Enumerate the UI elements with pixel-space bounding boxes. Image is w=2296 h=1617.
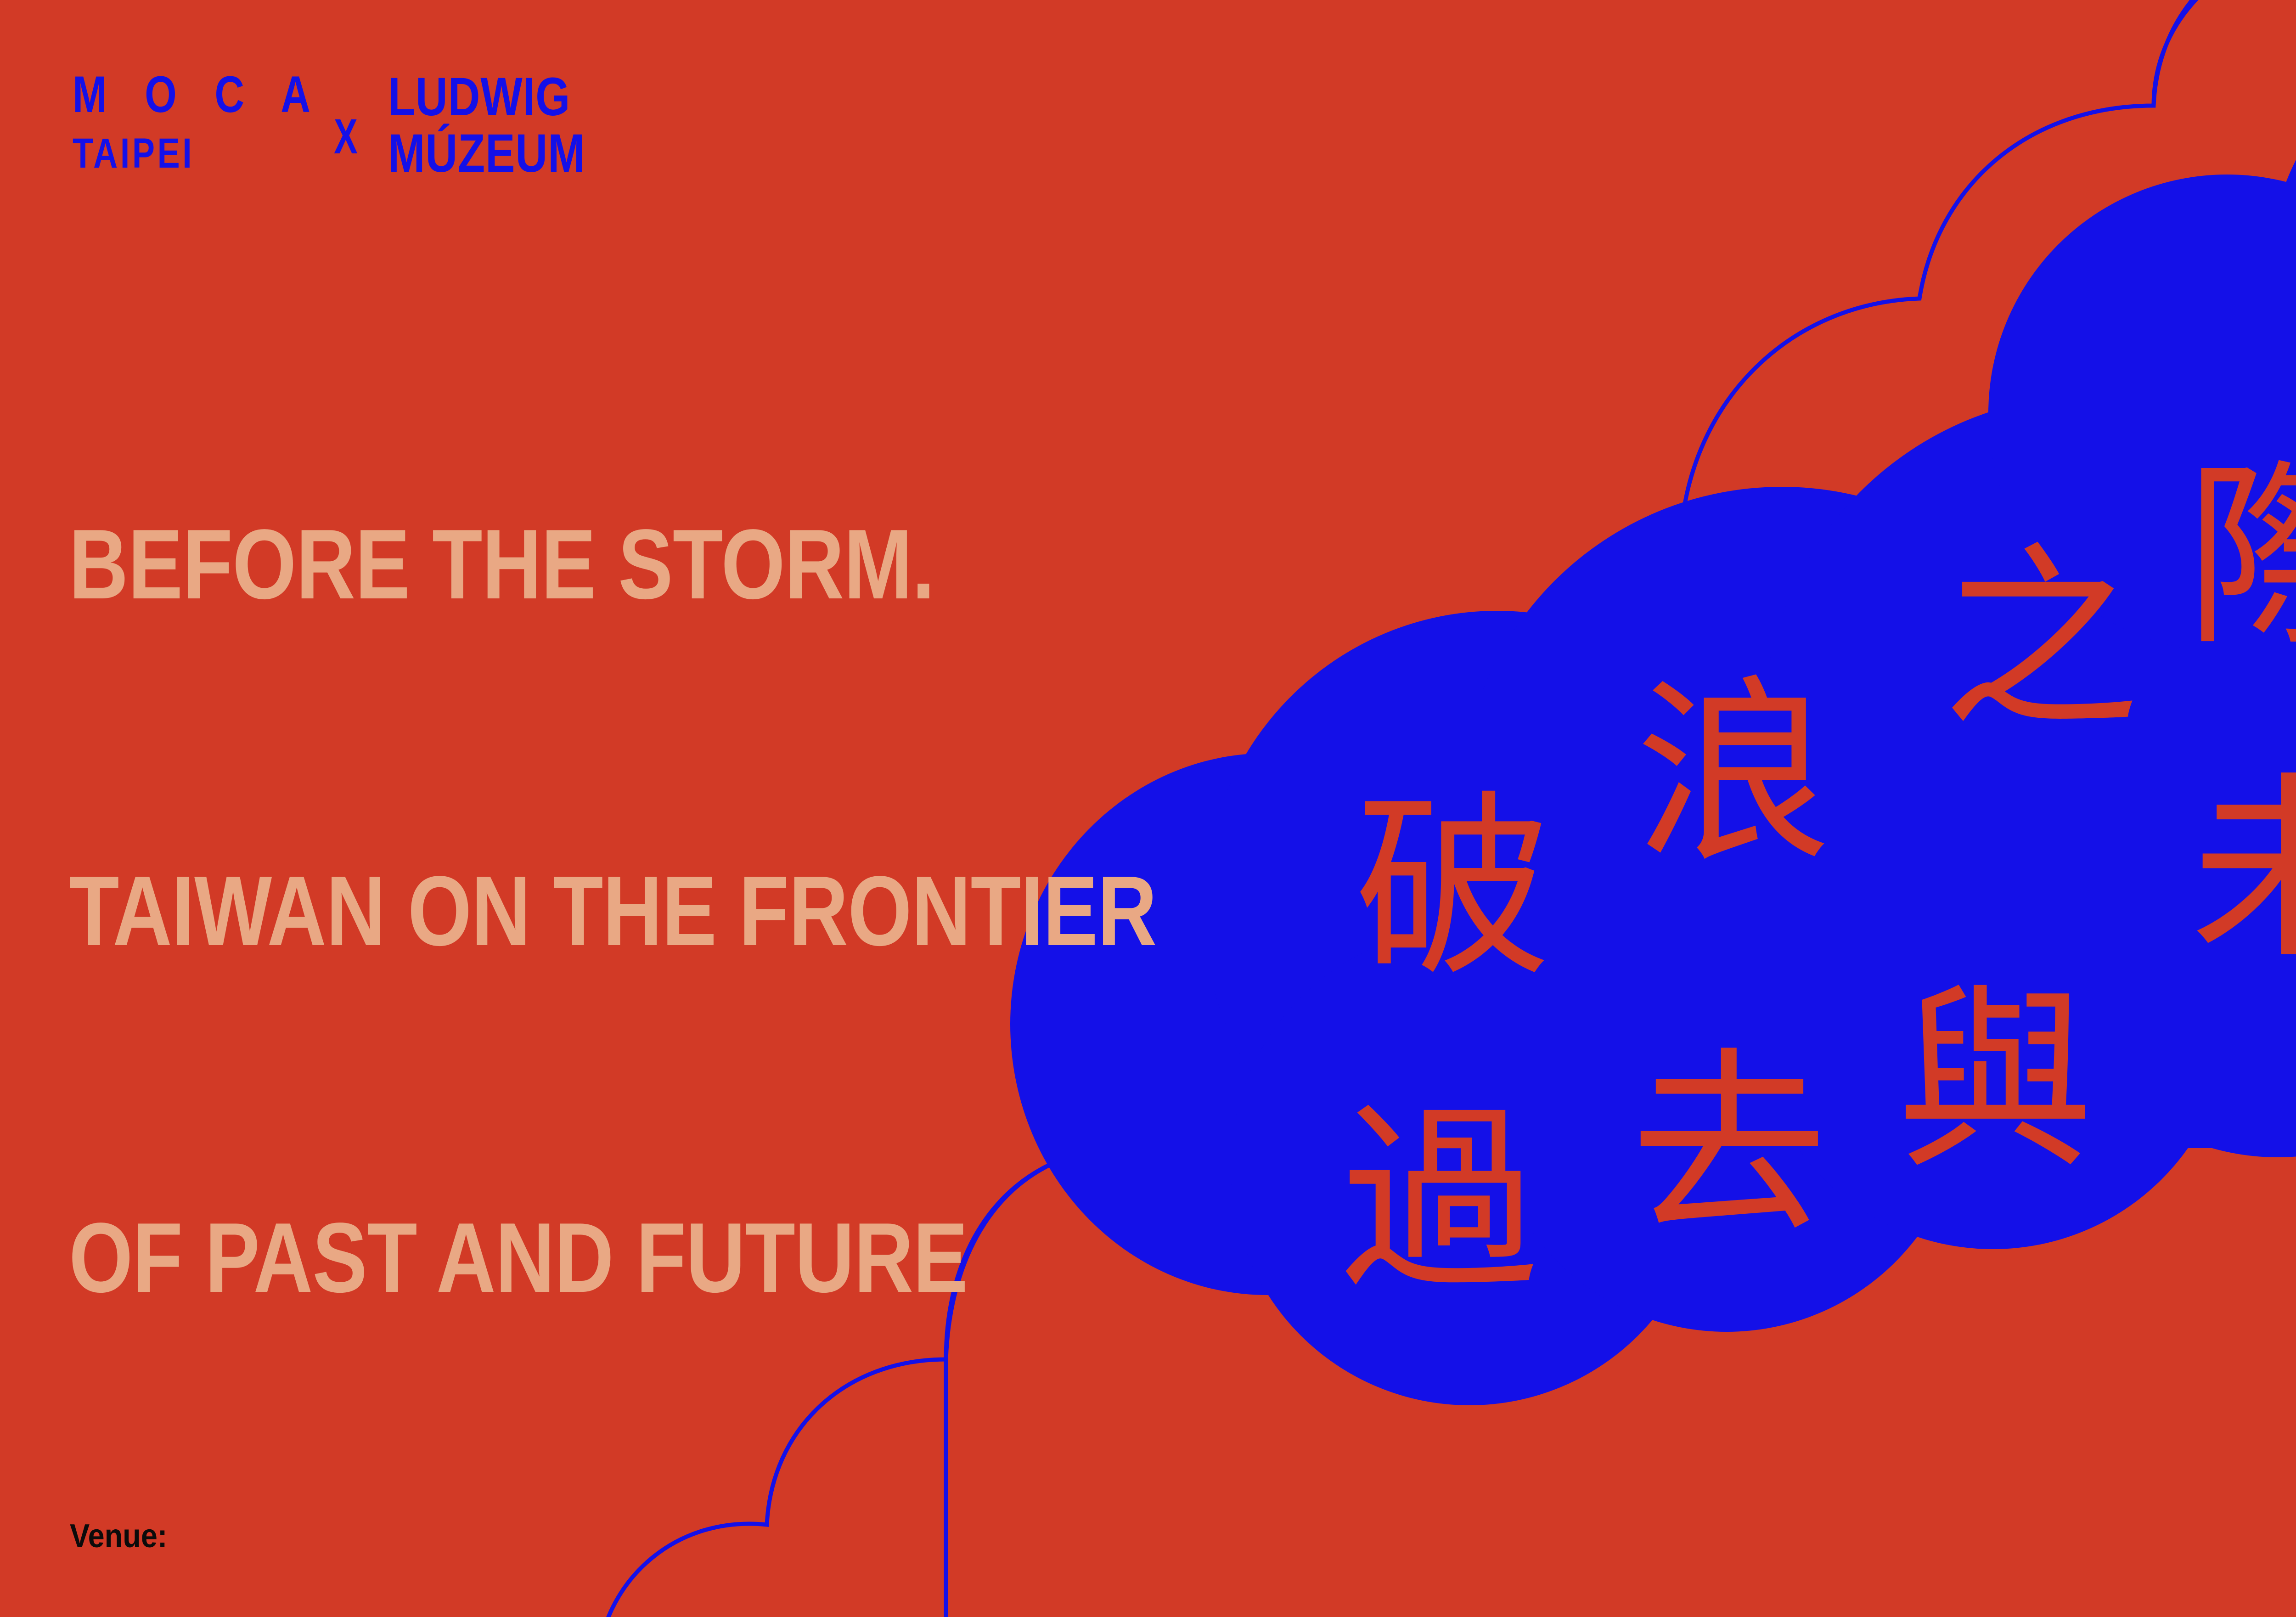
logo-moca-text: M O C A xyxy=(73,69,324,120)
title-line-2: TAIWAN ON THE FRONTIER xyxy=(69,853,1157,969)
logo-lockup[interactable]: M O C A TAIPEI X LUDWIG MÚZEUM xyxy=(73,69,629,181)
chinese-character: 之 xyxy=(1942,542,2140,739)
chinese-character: 過 xyxy=(1341,1102,1538,1300)
logo-taipei-text: TAIPEI xyxy=(73,132,324,175)
exhibition-title: BEFORE THE STORM. TAIWAN ON THE FRONTIER… xyxy=(69,276,1157,1547)
logo-ludwig-text: LUDWIG xyxy=(388,69,585,125)
logo-muzeum-text: MÚZEUM xyxy=(388,125,585,182)
chinese-character: 去 xyxy=(1630,1047,1828,1245)
chinese-character: 浪 xyxy=(1635,675,1832,873)
logo-separator-x: X xyxy=(334,107,358,165)
title-line-3: OF PAST AND FUTURE xyxy=(69,1200,1157,1316)
chinese-character: 破 xyxy=(1355,790,1552,987)
chinese-character: 際 xyxy=(2186,459,2296,657)
title-line-1: BEFORE THE STORM. xyxy=(69,507,1157,622)
logo-ludwig-muzeum[interactable]: LUDWIG MÚZEUM xyxy=(388,69,629,181)
chinese-character: 未 xyxy=(2190,772,2296,969)
exhibition-poster: 臺灣的的前線際之來浪未破與去過 M O C A TAIPEI X LUDWIG … xyxy=(0,0,2296,1617)
chinese-character: 與 xyxy=(1896,983,2094,1180)
